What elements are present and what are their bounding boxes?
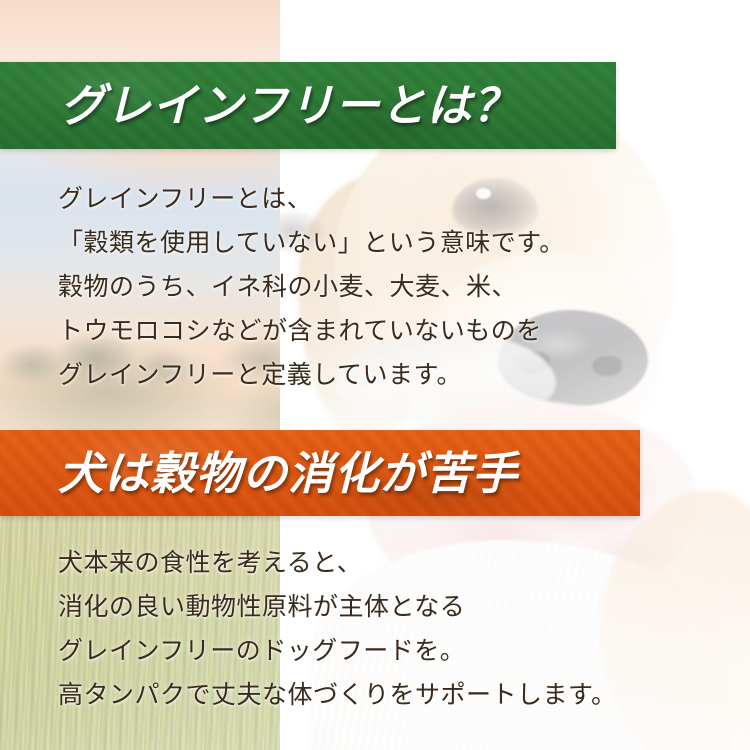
paragraph-line: 「穀類を使用していない」という意味です。 [58,222,565,266]
paragraph-line: グレインフリーのドッグフードを。 [58,630,617,674]
grain-free-banner-label: グレインフリーとは？ [60,83,519,128]
infographic-canvas: グレインフリーとは？ グレインフリーとは、 「穀類を使用していない」という意味で… [0,0,750,750]
paragraph-line: 消化の良い動物性原料が主体となる [58,586,617,630]
paragraph-line: グレインフリーとは、 [58,178,565,222]
grain-free-paragraph: グレインフリーとは、 「穀類を使用していない」という意味です。 穀物のうち、イネ… [58,178,565,398]
grain-free-banner: グレインフリーとは？ [0,62,616,149]
digestion-banner: 犬は穀物の消化が苦手 [0,430,640,516]
paragraph-line: 穀物のうち、イネ科の小麦、大麦、米、 [58,266,565,310]
digestion-banner-label: 犬は穀物の消化が苦手 [58,451,518,496]
paragraph-line: グレインフリーと定義しています。 [58,354,565,398]
digestion-paragraph: 犬本来の食性を考えると、 消化の良い動物性原料が主体となる グレインフリーのドッ… [58,542,617,718]
paragraph-line: トウモロコシなどが含まれていないものを [58,310,565,354]
paragraph-line: 高タンパクで丈夫な体づくりをサポートします。 [58,674,617,718]
paragraph-line: 犬本来の食性を考えると、 [58,542,617,586]
